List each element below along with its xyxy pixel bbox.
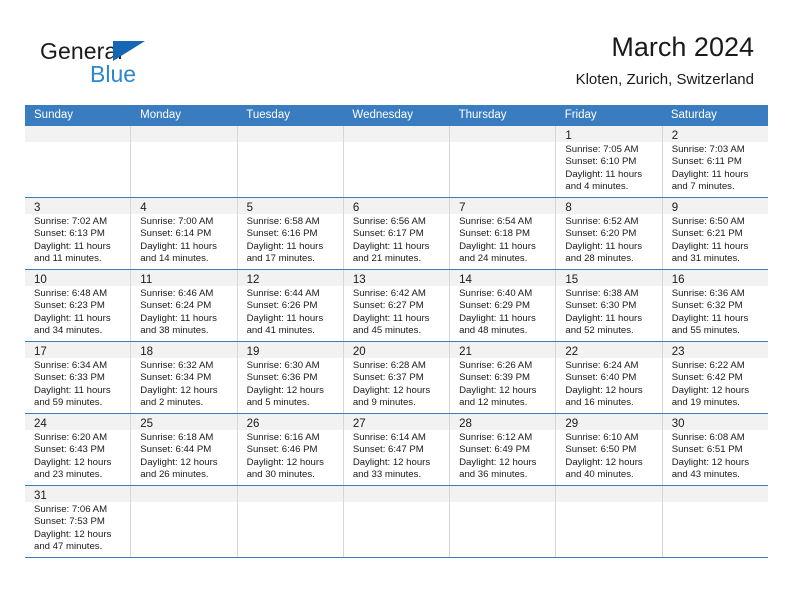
day-number: 21 bbox=[459, 346, 472, 358]
day-number-band: 4 bbox=[131, 198, 236, 214]
day-sun-info: Sunrise: 6:46 AMSunset: 6:24 PMDaylight:… bbox=[131, 286, 236, 340]
day-number-band: 27 bbox=[344, 414, 449, 430]
day-number: 6 bbox=[353, 202, 359, 214]
sunset-text: Sunset: 6:24 PM bbox=[140, 300, 232, 312]
daylight-text-line2: and 2 minutes. bbox=[140, 397, 232, 409]
calendar-day-cell[interactable]: 14Sunrise: 6:40 AMSunset: 6:29 PMDayligh… bbox=[450, 270, 556, 341]
day-number-band: 13 bbox=[344, 270, 449, 286]
sunset-text: Sunset: 6:33 PM bbox=[34, 372, 126, 384]
day-number-band: 7 bbox=[450, 198, 555, 214]
sunrise-text: Sunrise: 6:10 AM bbox=[565, 432, 657, 444]
calendar-day-cell[interactable]: 15Sunrise: 6:38 AMSunset: 6:30 PMDayligh… bbox=[556, 270, 662, 341]
calendar-day-cell-empty bbox=[238, 126, 344, 197]
sunset-text: Sunset: 6:10 PM bbox=[565, 156, 657, 168]
sunrise-text: Sunrise: 6:26 AM bbox=[459, 360, 551, 372]
calendar-day-cell-empty bbox=[450, 126, 556, 197]
daylight-text-line2: and 38 minutes. bbox=[140, 325, 232, 337]
sunset-text: Sunset: 7:53 PM bbox=[34, 516, 126, 528]
day-number: 25 bbox=[140, 418, 153, 430]
day-number: 4 bbox=[140, 202, 146, 214]
day-sun-info: Sunrise: 6:38 AMSunset: 6:30 PMDaylight:… bbox=[556, 286, 661, 340]
daylight-text-line1: Daylight: 11 hours bbox=[565, 241, 657, 253]
day-sun-info: Sunrise: 6:48 AMSunset: 6:23 PMDaylight:… bbox=[25, 286, 130, 340]
weekday-friday: Friday bbox=[556, 105, 662, 126]
calendar-day-cell-empty bbox=[25, 126, 131, 197]
day-number: 2 bbox=[672, 130, 678, 142]
calendar-day-cell-empty bbox=[663, 486, 768, 557]
day-sun-info: Sunrise: 6:18 AMSunset: 6:44 PMDaylight:… bbox=[131, 430, 236, 484]
calendar-day-cell-empty bbox=[238, 486, 344, 557]
sunrise-text: Sunrise: 6:36 AM bbox=[672, 288, 764, 300]
day-number: 22 bbox=[565, 346, 578, 358]
daylight-text-line2: and 19 minutes. bbox=[672, 397, 764, 409]
location-subtitle: Kloten, Zurich, Switzerland bbox=[576, 70, 754, 89]
daylight-text-line1: Daylight: 12 hours bbox=[353, 457, 445, 469]
page-header: General Blue March 2024 Kloten, Zurich, … bbox=[0, 0, 792, 100]
daylight-text-line2: and 11 minutes. bbox=[34, 253, 126, 265]
daylight-text-line2: and 31 minutes. bbox=[672, 253, 764, 265]
daylight-text-line2: and 17 minutes. bbox=[247, 253, 339, 265]
daylight-text-line2: and 23 minutes. bbox=[34, 469, 126, 481]
daylight-text-line1: Daylight: 12 hours bbox=[565, 457, 657, 469]
day-number-band bbox=[663, 486, 768, 502]
day-number: 27 bbox=[353, 418, 366, 430]
day-number-band bbox=[556, 486, 661, 502]
calendar-day-cell[interactable]: 13Sunrise: 6:42 AMSunset: 6:27 PMDayligh… bbox=[344, 270, 450, 341]
day-number-band bbox=[238, 486, 343, 502]
calendar-day-cell[interactable]: 20Sunrise: 6:28 AMSunset: 6:37 PMDayligh… bbox=[344, 342, 450, 413]
day-sun-info: Sunrise: 6:44 AMSunset: 6:26 PMDaylight:… bbox=[238, 286, 343, 340]
daylight-text-line2: and 45 minutes. bbox=[353, 325, 445, 337]
day-number-band bbox=[344, 486, 449, 502]
daylight-text-line2: and 12 minutes. bbox=[459, 397, 551, 409]
calendar-day-cell[interactable]: 24Sunrise: 6:20 AMSunset: 6:43 PMDayligh… bbox=[25, 414, 131, 485]
day-sun-info: Sunrise: 6:40 AMSunset: 6:29 PMDaylight:… bbox=[450, 286, 555, 340]
calendar-day-cell-empty bbox=[344, 126, 450, 197]
sunrise-text: Sunrise: 6:18 AM bbox=[140, 432, 232, 444]
day-number-band bbox=[131, 486, 236, 502]
calendar-day-cell[interactable]: 16Sunrise: 6:36 AMSunset: 6:32 PMDayligh… bbox=[663, 270, 768, 341]
daylight-text-line1: Daylight: 12 hours bbox=[672, 385, 764, 397]
daylight-text-line2: and 14 minutes. bbox=[140, 253, 232, 265]
day-sun-info: Sunrise: 6:30 AMSunset: 6:36 PMDaylight:… bbox=[238, 358, 343, 412]
sunrise-text: Sunrise: 7:05 AM bbox=[565, 144, 657, 156]
sunset-text: Sunset: 6:43 PM bbox=[34, 444, 126, 456]
sunset-text: Sunset: 6:37 PM bbox=[353, 372, 445, 384]
calendar-day-cell[interactable]: 28Sunrise: 6:12 AMSunset: 6:49 PMDayligh… bbox=[450, 414, 556, 485]
day-number-band: 18 bbox=[131, 342, 236, 358]
sunrise-text: Sunrise: 6:30 AM bbox=[247, 360, 339, 372]
calendar-page: General Blue March 2024 Kloten, Zurich, … bbox=[0, 0, 792, 612]
day-number: 24 bbox=[34, 418, 47, 430]
sunset-text: Sunset: 6:29 PM bbox=[459, 300, 551, 312]
calendar-day-cell[interactable]: 25Sunrise: 6:18 AMSunset: 6:44 PMDayligh… bbox=[131, 414, 237, 485]
day-number: 5 bbox=[247, 202, 253, 214]
day-number-band: 20 bbox=[344, 342, 449, 358]
calendar-day-cell[interactable]: 10Sunrise: 6:48 AMSunset: 6:23 PMDayligh… bbox=[25, 270, 131, 341]
calendar-day-cell[interactable]: 12Sunrise: 6:44 AMSunset: 6:26 PMDayligh… bbox=[238, 270, 344, 341]
sunrise-text: Sunrise: 6:24 AM bbox=[565, 360, 657, 372]
daylight-text-line2: and 5 minutes. bbox=[247, 397, 339, 409]
daylight-text-line1: Daylight: 11 hours bbox=[34, 385, 126, 397]
sunrise-text: Sunrise: 6:14 AM bbox=[353, 432, 445, 444]
day-number-band: 3 bbox=[25, 198, 130, 214]
calendar-day-cell[interactable]: 21Sunrise: 6:26 AMSunset: 6:39 PMDayligh… bbox=[450, 342, 556, 413]
calendar-day-cell-empty bbox=[131, 126, 237, 197]
daylight-text-line2: and 26 minutes. bbox=[140, 469, 232, 481]
day-number-band: 10 bbox=[25, 270, 130, 286]
calendar-day-cell[interactable]: 31Sunrise: 7:06 AMSunset: 7:53 PMDayligh… bbox=[25, 486, 131, 557]
daylight-text-line2: and 40 minutes. bbox=[565, 469, 657, 481]
sunset-text: Sunset: 6:30 PM bbox=[565, 300, 657, 312]
sunset-text: Sunset: 6:26 PM bbox=[247, 300, 339, 312]
day-number-band: 11 bbox=[131, 270, 236, 286]
day-number: 15 bbox=[565, 274, 578, 286]
day-sun-info: Sunrise: 6:36 AMSunset: 6:32 PMDaylight:… bbox=[663, 286, 768, 340]
day-number-band: 16 bbox=[663, 270, 768, 286]
day-number: 1 bbox=[565, 130, 571, 142]
sunrise-text: Sunrise: 6:20 AM bbox=[34, 432, 126, 444]
sunset-text: Sunset: 6:44 PM bbox=[140, 444, 232, 456]
calendar-week-row: 17Sunrise: 6:34 AMSunset: 6:33 PMDayligh… bbox=[25, 341, 768, 413]
weekday-thursday: Thursday bbox=[450, 105, 556, 126]
day-sun-info: Sunrise: 6:52 AMSunset: 6:20 PMDaylight:… bbox=[556, 214, 661, 268]
daylight-text-line1: Daylight: 11 hours bbox=[459, 241, 551, 253]
sunset-text: Sunset: 6:17 PM bbox=[353, 228, 445, 240]
daylight-text-line2: and 41 minutes. bbox=[247, 325, 339, 337]
calendar-day-cell[interactable]: 30Sunrise: 6:08 AMSunset: 6:51 PMDayligh… bbox=[663, 414, 768, 485]
daylight-text-line2: and 7 minutes. bbox=[672, 181, 764, 193]
calendar-day-cell[interactable]: 2Sunrise: 7:03 AMSunset: 6:11 PMDaylight… bbox=[663, 126, 768, 197]
day-number: 30 bbox=[672, 418, 685, 430]
daylight-text-line1: Daylight: 12 hours bbox=[140, 457, 232, 469]
sunset-text: Sunset: 6:36 PM bbox=[247, 372, 339, 384]
calendar-day-cell[interactable]: 11Sunrise: 6:46 AMSunset: 6:24 PMDayligh… bbox=[131, 270, 237, 341]
sunrise-text: Sunrise: 6:54 AM bbox=[459, 216, 551, 228]
weekday-header-row: Sunday Monday Tuesday Wednesday Thursday… bbox=[25, 105, 768, 126]
day-number: 26 bbox=[247, 418, 260, 430]
daylight-text-line2: and 47 minutes. bbox=[34, 541, 126, 553]
day-sun-info: Sunrise: 6:10 AMSunset: 6:50 PMDaylight:… bbox=[556, 430, 661, 484]
sunset-text: Sunset: 6:49 PM bbox=[459, 444, 551, 456]
daylight-text-line1: Daylight: 12 hours bbox=[34, 457, 126, 469]
sunset-text: Sunset: 6:14 PM bbox=[140, 228, 232, 240]
day-sun-info: Sunrise: 6:34 AMSunset: 6:33 PMDaylight:… bbox=[25, 358, 130, 412]
daylight-text-line2: and 9 minutes. bbox=[353, 397, 445, 409]
daylight-text-line1: Daylight: 11 hours bbox=[34, 313, 126, 325]
calendar-grid: Sunday Monday Tuesday Wednesday Thursday… bbox=[25, 105, 768, 558]
day-sun-info: Sunrise: 6:28 AMSunset: 6:37 PMDaylight:… bbox=[344, 358, 449, 412]
day-number-band: 19 bbox=[238, 342, 343, 358]
daylight-text-line2: and 48 minutes. bbox=[459, 325, 551, 337]
day-number: 14 bbox=[459, 274, 472, 286]
day-sun-info: Sunrise: 6:08 AMSunset: 6:51 PMDaylight:… bbox=[663, 430, 768, 484]
sunrise-text: Sunrise: 6:34 AM bbox=[34, 360, 126, 372]
day-sun-info: Sunrise: 7:00 AMSunset: 6:14 PMDaylight:… bbox=[131, 214, 236, 268]
calendar-day-cell[interactable]: 26Sunrise: 6:16 AMSunset: 6:46 PMDayligh… bbox=[238, 414, 344, 485]
daylight-text-line1: Daylight: 11 hours bbox=[672, 313, 764, 325]
calendar-day-cell[interactable]: 1Sunrise: 7:05 AMSunset: 6:10 PMDaylight… bbox=[556, 126, 662, 197]
calendar-week-row: 10Sunrise: 6:48 AMSunset: 6:23 PMDayligh… bbox=[25, 269, 768, 341]
daylight-text-line2: and 28 minutes. bbox=[565, 253, 657, 265]
day-number-band: 17 bbox=[25, 342, 130, 358]
day-number-band: 29 bbox=[556, 414, 661, 430]
daylight-text-line1: Daylight: 11 hours bbox=[247, 313, 339, 325]
day-number: 29 bbox=[565, 418, 578, 430]
day-number-band: 31 bbox=[25, 486, 130, 502]
day-number: 31 bbox=[34, 490, 47, 502]
daylight-text-line1: Daylight: 12 hours bbox=[140, 385, 232, 397]
day-number-band: 22 bbox=[556, 342, 661, 358]
day-sun-info: Sunrise: 6:50 AMSunset: 6:21 PMDaylight:… bbox=[663, 214, 768, 268]
calendar-day-cell-empty bbox=[131, 486, 237, 557]
day-number-band bbox=[238, 126, 343, 142]
day-sun-info: Sunrise: 6:24 AMSunset: 6:40 PMDaylight:… bbox=[556, 358, 661, 412]
calendar-day-cell[interactable]: 4Sunrise: 7:00 AMSunset: 6:14 PMDaylight… bbox=[131, 198, 237, 269]
sunrise-text: Sunrise: 6:08 AM bbox=[672, 432, 764, 444]
day-sun-info: Sunrise: 6:16 AMSunset: 6:46 PMDaylight:… bbox=[238, 430, 343, 484]
calendar-day-cell[interactable]: 7Sunrise: 6:54 AMSunset: 6:18 PMDaylight… bbox=[450, 198, 556, 269]
day-sun-info: Sunrise: 7:05 AMSunset: 6:10 PMDaylight:… bbox=[556, 142, 661, 196]
day-number-band bbox=[344, 126, 449, 142]
calendar-week-row: 3Sunrise: 7:02 AMSunset: 6:13 PMDaylight… bbox=[25, 197, 768, 269]
day-sun-info: Sunrise: 7:03 AMSunset: 6:11 PMDaylight:… bbox=[663, 142, 768, 196]
sunrise-text: Sunrise: 6:56 AM bbox=[353, 216, 445, 228]
day-sun-info: Sunrise: 6:14 AMSunset: 6:47 PMDaylight:… bbox=[344, 430, 449, 484]
day-sun-info: Sunrise: 7:06 AMSunset: 7:53 PMDaylight:… bbox=[25, 502, 130, 556]
calendar-day-cell[interactable]: 6Sunrise: 6:56 AMSunset: 6:17 PMDaylight… bbox=[344, 198, 450, 269]
daylight-text-line1: Daylight: 11 hours bbox=[672, 169, 764, 181]
day-number-band bbox=[131, 126, 236, 142]
daylight-text-line2: and 24 minutes. bbox=[459, 253, 551, 265]
calendar-day-cell[interactable]: 18Sunrise: 6:32 AMSunset: 6:34 PMDayligh… bbox=[131, 342, 237, 413]
calendar-day-cell-empty bbox=[556, 486, 662, 557]
day-number: 12 bbox=[247, 274, 260, 286]
day-number: 11 bbox=[140, 274, 152, 286]
sunset-text: Sunset: 6:21 PM bbox=[672, 228, 764, 240]
calendar-day-cell[interactable]: 5Sunrise: 6:58 AMSunset: 6:16 PMDaylight… bbox=[238, 198, 344, 269]
day-sun-info: Sunrise: 6:12 AMSunset: 6:49 PMDaylight:… bbox=[450, 430, 555, 484]
daylight-text-line1: Daylight: 11 hours bbox=[353, 241, 445, 253]
day-number-band: 25 bbox=[131, 414, 236, 430]
sunset-text: Sunset: 6:34 PM bbox=[140, 372, 232, 384]
sunrise-text: Sunrise: 7:06 AM bbox=[34, 504, 126, 516]
sunset-text: Sunset: 6:20 PM bbox=[565, 228, 657, 240]
sunset-text: Sunset: 6:47 PM bbox=[353, 444, 445, 456]
day-number: 20 bbox=[353, 346, 366, 358]
sunset-text: Sunset: 6:16 PM bbox=[247, 228, 339, 240]
weekday-saturday: Saturday bbox=[662, 105, 768, 126]
calendar-day-cell[interactable]: 9Sunrise: 6:50 AMSunset: 6:21 PMDaylight… bbox=[663, 198, 768, 269]
weekday-sunday: Sunday bbox=[25, 105, 131, 126]
day-number-band: 5 bbox=[238, 198, 343, 214]
daylight-text-line1: Daylight: 12 hours bbox=[247, 385, 339, 397]
sunrise-text: Sunrise: 7:03 AM bbox=[672, 144, 764, 156]
day-number-band: 1 bbox=[556, 126, 661, 142]
day-number-band: 15 bbox=[556, 270, 661, 286]
day-number-band: 21 bbox=[450, 342, 555, 358]
weekday-wednesday: Wednesday bbox=[343, 105, 449, 126]
sunrise-text: Sunrise: 6:58 AM bbox=[247, 216, 339, 228]
day-sun-info: Sunrise: 6:32 AMSunset: 6:34 PMDaylight:… bbox=[131, 358, 236, 412]
page-title: March 2024 bbox=[576, 30, 754, 64]
day-number-band: 12 bbox=[238, 270, 343, 286]
sunset-text: Sunset: 6:27 PM bbox=[353, 300, 445, 312]
daylight-text-line1: Daylight: 11 hours bbox=[459, 313, 551, 325]
day-number: 7 bbox=[459, 202, 465, 214]
sunrise-text: Sunrise: 6:16 AM bbox=[247, 432, 339, 444]
day-number-band: 14 bbox=[450, 270, 555, 286]
day-number: 3 bbox=[34, 202, 40, 214]
title-block: March 2024 Kloten, Zurich, Switzerland bbox=[576, 30, 754, 89]
weekday-tuesday: Tuesday bbox=[237, 105, 343, 126]
daylight-text-line1: Daylight: 11 hours bbox=[565, 313, 657, 325]
daylight-text-line2: and 21 minutes. bbox=[353, 253, 445, 265]
day-number: 9 bbox=[672, 202, 678, 214]
daylight-text-line1: Daylight: 11 hours bbox=[34, 241, 126, 253]
sunset-text: Sunset: 6:50 PM bbox=[565, 444, 657, 456]
sunrise-text: Sunrise: 6:28 AM bbox=[353, 360, 445, 372]
daylight-text-line2: and 43 minutes. bbox=[672, 469, 764, 481]
day-number-band: 6 bbox=[344, 198, 449, 214]
calendar-day-cell[interactable]: 23Sunrise: 6:22 AMSunset: 6:42 PMDayligh… bbox=[663, 342, 768, 413]
daylight-text-line1: Daylight: 12 hours bbox=[459, 385, 551, 397]
day-number: 23 bbox=[672, 346, 685, 358]
sunset-text: Sunset: 6:13 PM bbox=[34, 228, 126, 240]
sunset-text: Sunset: 6:32 PM bbox=[672, 300, 764, 312]
daylight-text-line1: Daylight: 11 hours bbox=[565, 169, 657, 181]
sunset-text: Sunset: 6:42 PM bbox=[672, 372, 764, 384]
daylight-text-line1: Daylight: 12 hours bbox=[247, 457, 339, 469]
sunset-text: Sunset: 6:46 PM bbox=[247, 444, 339, 456]
calendar-week-row: 1Sunrise: 7:05 AMSunset: 6:10 PMDaylight… bbox=[25, 126, 768, 197]
logo-flag-icon bbox=[113, 41, 145, 61]
day-number: 16 bbox=[672, 274, 685, 286]
daylight-text-line2: and 16 minutes. bbox=[565, 397, 657, 409]
sunrise-text: Sunrise: 6:12 AM bbox=[459, 432, 551, 444]
daylight-text-line2: and 30 minutes. bbox=[247, 469, 339, 481]
sunrise-text: Sunrise: 6:32 AM bbox=[140, 360, 232, 372]
sunrise-text: Sunrise: 6:42 AM bbox=[353, 288, 445, 300]
daylight-text-line1: Daylight: 11 hours bbox=[672, 241, 764, 253]
daylight-text-line1: Daylight: 12 hours bbox=[565, 385, 657, 397]
day-sun-info: Sunrise: 6:42 AMSunset: 6:27 PMDaylight:… bbox=[344, 286, 449, 340]
sunset-text: Sunset: 6:51 PM bbox=[672, 444, 764, 456]
calendar-day-cell[interactable]: 19Sunrise: 6:30 AMSunset: 6:36 PMDayligh… bbox=[238, 342, 344, 413]
day-number-band: 2 bbox=[663, 126, 768, 142]
day-number-band: 23 bbox=[663, 342, 768, 358]
day-number-band: 24 bbox=[25, 414, 130, 430]
sunrise-text: Sunrise: 6:22 AM bbox=[672, 360, 764, 372]
daylight-text-line2: and 59 minutes. bbox=[34, 397, 126, 409]
daylight-text-line1: Daylight: 11 hours bbox=[140, 241, 232, 253]
general-blue-logo[interactable]: General Blue bbox=[40, 38, 240, 94]
day-sun-info: Sunrise: 6:20 AMSunset: 6:43 PMDaylight:… bbox=[25, 430, 130, 484]
day-number-band bbox=[25, 126, 130, 142]
day-number: 28 bbox=[459, 418, 472, 430]
daylight-text-line2: and 34 minutes. bbox=[34, 325, 126, 337]
daylight-text-line2: and 33 minutes. bbox=[353, 469, 445, 481]
calendar-week-row: 24Sunrise: 6:20 AMSunset: 6:43 PMDayligh… bbox=[25, 413, 768, 485]
day-sun-info: Sunrise: 6:26 AMSunset: 6:39 PMDaylight:… bbox=[450, 358, 555, 412]
sunrise-text: Sunrise: 6:48 AM bbox=[34, 288, 126, 300]
calendar-day-cell[interactable]: 8Sunrise: 6:52 AMSunset: 6:20 PMDaylight… bbox=[556, 198, 662, 269]
calendar-day-cell[interactable]: 29Sunrise: 6:10 AMSunset: 6:50 PMDayligh… bbox=[556, 414, 662, 485]
daylight-text-line2: and 36 minutes. bbox=[459, 469, 551, 481]
day-number-band: 26 bbox=[238, 414, 343, 430]
daylight-text-line2: and 55 minutes. bbox=[672, 325, 764, 337]
sunset-text: Sunset: 6:11 PM bbox=[672, 156, 764, 168]
sunrise-text: Sunrise: 6:44 AM bbox=[247, 288, 339, 300]
calendar-day-cell-empty bbox=[344, 486, 450, 557]
day-sun-info: Sunrise: 6:58 AMSunset: 6:16 PMDaylight:… bbox=[238, 214, 343, 268]
sunset-text: Sunset: 6:23 PM bbox=[34, 300, 126, 312]
daylight-text-line1: Daylight: 11 hours bbox=[247, 241, 339, 253]
sunrise-text: Sunrise: 7:02 AM bbox=[34, 216, 126, 228]
sunrise-text: Sunrise: 6:38 AM bbox=[565, 288, 657, 300]
weekday-monday: Monday bbox=[131, 105, 237, 126]
sunset-text: Sunset: 6:40 PM bbox=[565, 372, 657, 384]
day-sun-info: Sunrise: 6:56 AMSunset: 6:17 PMDaylight:… bbox=[344, 214, 449, 268]
sunset-text: Sunset: 6:18 PM bbox=[459, 228, 551, 240]
calendar-day-cell[interactable]: 22Sunrise: 6:24 AMSunset: 6:40 PMDayligh… bbox=[556, 342, 662, 413]
daylight-text-line1: Daylight: 11 hours bbox=[353, 313, 445, 325]
day-number: 8 bbox=[565, 202, 571, 214]
logo-text-blue: Blue bbox=[90, 61, 136, 87]
daylight-text-line1: Daylight: 12 hours bbox=[459, 457, 551, 469]
daylight-text-line2: and 4 minutes. bbox=[565, 181, 657, 193]
day-number-band: 8 bbox=[556, 198, 661, 214]
day-number-band bbox=[450, 126, 555, 142]
calendar-week-row: 31Sunrise: 7:06 AMSunset: 7:53 PMDayligh… bbox=[25, 485, 768, 558]
daylight-text-line1: Daylight: 11 hours bbox=[140, 313, 232, 325]
day-sun-info: Sunrise: 7:02 AMSunset: 6:13 PMDaylight:… bbox=[25, 214, 130, 268]
calendar-day-cell[interactable]: 17Sunrise: 6:34 AMSunset: 6:33 PMDayligh… bbox=[25, 342, 131, 413]
sunrise-text: Sunrise: 6:50 AM bbox=[672, 216, 764, 228]
sunrise-text: Sunrise: 6:40 AM bbox=[459, 288, 551, 300]
day-number: 13 bbox=[353, 274, 366, 286]
calendar-day-cell[interactable]: 3Sunrise: 7:02 AMSunset: 6:13 PMDaylight… bbox=[25, 198, 131, 269]
day-number-band: 9 bbox=[663, 198, 768, 214]
sunset-text: Sunset: 6:39 PM bbox=[459, 372, 551, 384]
day-number: 19 bbox=[247, 346, 260, 358]
daylight-text-line2: and 52 minutes. bbox=[565, 325, 657, 337]
calendar-weeks: 1Sunrise: 7:05 AMSunset: 6:10 PMDaylight… bbox=[25, 126, 768, 558]
day-number-band: 30 bbox=[663, 414, 768, 430]
calendar-day-cell[interactable]: 27Sunrise: 6:14 AMSunset: 6:47 PMDayligh… bbox=[344, 414, 450, 485]
sunrise-text: Sunrise: 6:46 AM bbox=[140, 288, 232, 300]
day-number-band: 28 bbox=[450, 414, 555, 430]
day-sun-info: Sunrise: 6:22 AMSunset: 6:42 PMDaylight:… bbox=[663, 358, 768, 412]
day-number: 10 bbox=[34, 274, 47, 286]
calendar-day-cell-empty bbox=[450, 486, 556, 557]
day-sun-info: Sunrise: 6:54 AMSunset: 6:18 PMDaylight:… bbox=[450, 214, 555, 268]
sunrise-text: Sunrise: 6:52 AM bbox=[565, 216, 657, 228]
daylight-text-line1: Daylight: 12 hours bbox=[34, 529, 126, 541]
day-number: 17 bbox=[34, 346, 47, 358]
daylight-text-line1: Daylight: 12 hours bbox=[672, 457, 764, 469]
sunrise-text: Sunrise: 7:00 AM bbox=[140, 216, 232, 228]
day-number-band bbox=[450, 486, 555, 502]
daylight-text-line1: Daylight: 12 hours bbox=[353, 385, 445, 397]
day-number: 18 bbox=[140, 346, 153, 358]
